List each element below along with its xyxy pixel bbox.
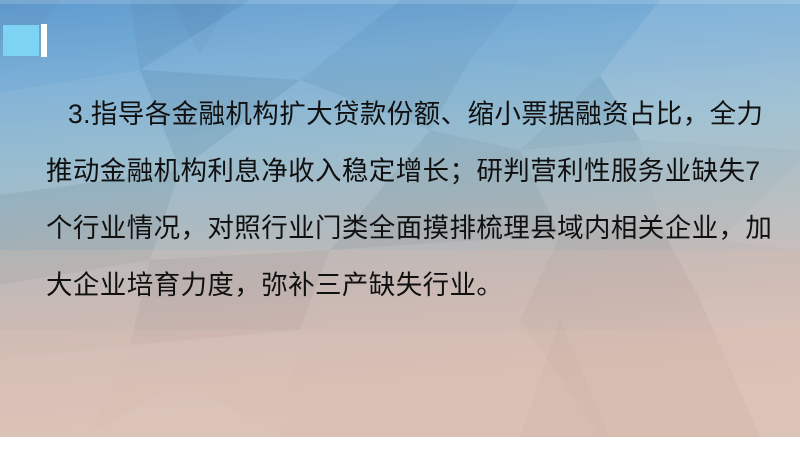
body-text-line-3: 个行业情况，对照行业门类全面摸排梳理县域内相关企业，加 — [46, 200, 752, 257]
slide-decoration-group — [0, 0, 120, 80]
bottom-white-strip — [0, 437, 800, 450]
body-text-line-1: 3.指导各金融机构扩大贷款份额、缩小票据融资占比，全力 — [46, 86, 752, 143]
body-text-line-4: 大企业培育力度，弥补三产缺失行业。 — [46, 257, 752, 314]
slide-body-text: 3.指导各金融机构扩大贷款份额、缩小票据融资占比，全力 推动金融机构利息净收入稳… — [46, 86, 752, 314]
body-text-line-2: 推动金融机构利息净收入稳定增长；研判营利性服务业缺失7 — [46, 143, 752, 200]
cyan-accent-block-icon — [3, 25, 39, 56]
presentation-slide: 3.指导各金融机构扩大贷款份额、缩小票据融资占比，全力 推动金融机构利息净收入稳… — [0, 0, 800, 450]
white-accent-bar-icon — [41, 24, 47, 57]
